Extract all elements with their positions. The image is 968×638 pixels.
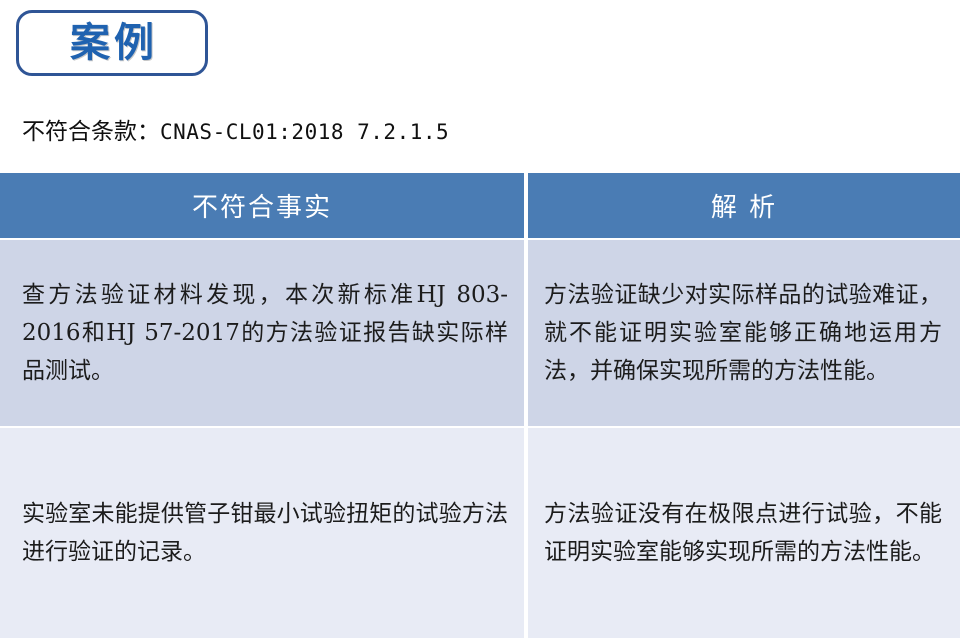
column-header-fact: 不符合事实	[0, 173, 524, 238]
table-header-row: 不符合事实 解 析	[0, 173, 960, 238]
case-badge-frame: 案例	[16, 10, 208, 76]
column-header-analysis: 解 析	[528, 173, 960, 238]
table-row: 查方法验证材料发现，本次新标准HJ 803-2016和HJ 57-2017的方法…	[0, 238, 960, 426]
table-row: 实验室未能提供管子钳最小试验扭矩的试验方法进行验证的记录。 方法验证没有在极限点…	[0, 426, 960, 638]
clause-line: 不符合条款：CNAS-CL01:2018 7.2.1.5	[22, 117, 449, 147]
clause-label: 不符合条款：	[22, 119, 160, 145]
cell-analysis: 方法验证没有在极限点进行试验，不能证明实验室能够实现所需的方法性能。	[528, 426, 960, 638]
clause-code: CNAS-CL01:2018 7.2.1.5	[160, 120, 449, 144]
case-table: 不符合事实 解 析 查方法验证材料发现，本次新标准HJ 803-2016和HJ …	[0, 173, 960, 638]
case-badge-label: 案例	[66, 23, 158, 63]
cell-fact: 实验室未能提供管子钳最小试验扭矩的试验方法进行验证的记录。	[0, 426, 524, 638]
cell-analysis: 方法验证缺少对实际样品的试验难证，就不能证明实验室能够正确地运用方法，并确保实现…	[528, 238, 960, 426]
case-badge: 案例	[16, 10, 208, 76]
cell-fact: 查方法验证材料发现，本次新标准HJ 803-2016和HJ 57-2017的方法…	[0, 238, 524, 426]
